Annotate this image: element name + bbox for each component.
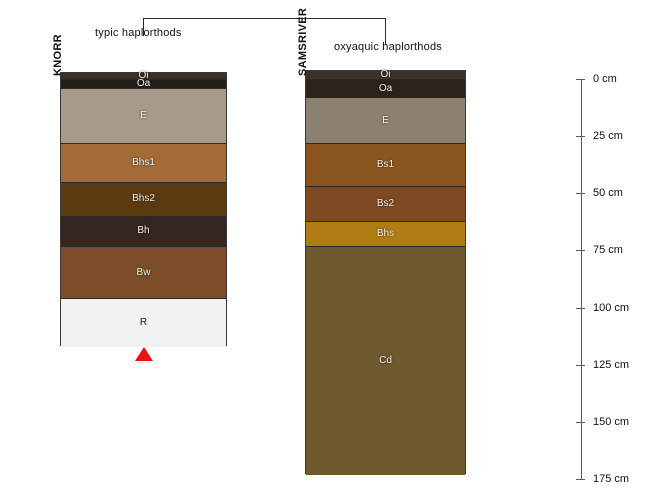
depth-tick (576, 250, 585, 251)
depth-tick (576, 479, 585, 480)
depth-tick-label: 75 cm (593, 244, 623, 256)
depth-tick-label: 50 cm (593, 187, 623, 199)
horizon-bh[interactable]: Bh (61, 217, 226, 247)
depth-tick (576, 308, 585, 309)
depth-tick (576, 365, 585, 366)
soil-profile-figure: typic haplorthods oxyaquic haplorthods O… (0, 0, 650, 500)
depth-tick-label: 100 cm (593, 302, 629, 314)
water-table-marker-icon (135, 347, 153, 361)
depth-tick (576, 193, 585, 194)
horizon-e[interactable]: E (61, 89, 226, 144)
horizon-label: Bh (137, 226, 149, 236)
depth-tick-label: 175 cm (593, 473, 629, 485)
horizon-label: Bw (137, 268, 151, 278)
soil-profile-samsriver[interactable]: OiOaEBs1Bs2BhsCd (305, 70, 466, 475)
horizon-bw[interactable]: Bw (61, 247, 226, 300)
taxonomy-bracket-horizontal (143, 18, 386, 19)
horizon-oa[interactable]: Oa (61, 80, 226, 89)
horizon-label: Bs1 (377, 160, 394, 170)
horizon-bhs1[interactable]: Bhs1 (61, 144, 226, 183)
horizon-label: Oa (137, 79, 150, 89)
profile-name-samsriver: SAMSRIVER (297, 8, 309, 76)
horizon-r[interactable]: R (61, 299, 226, 347)
horizon-bs1[interactable]: Bs1 (306, 144, 465, 187)
depth-tick-label: 150 cm (593, 416, 629, 428)
horizon-label: E (140, 111, 147, 121)
horizon-bhs2[interactable]: Bhs2 (61, 183, 226, 217)
horizon-label: Bs2 (377, 199, 394, 209)
horizon-label: Oa (379, 84, 392, 94)
profile-name-knorr: KNORR (52, 34, 64, 76)
depth-tick (576, 422, 585, 423)
horizon-label: E (382, 116, 389, 126)
horizon-cd[interactable]: Cd (306, 247, 465, 476)
horizon-bs2[interactable]: Bs2 (306, 187, 465, 221)
depth-tick-label: 0 cm (593, 73, 617, 85)
horizon-label: Bhs (377, 229, 394, 239)
depth-tick (576, 136, 585, 137)
horizon-label: Bhs2 (132, 194, 155, 204)
horizon-bhs[interactable]: Bhs (306, 222, 465, 247)
depth-axis-line (581, 79, 582, 479)
taxon-label-typic-haplorthods: typic haplorthods (95, 27, 182, 39)
horizon-oi[interactable]: Oi (61, 73, 226, 80)
depth-tick-label: 125 cm (593, 359, 629, 371)
depth-tick (576, 79, 585, 80)
horizon-oa[interactable]: Oa (306, 80, 465, 98)
horizon-label: Cd (379, 356, 392, 366)
horizon-oi[interactable]: Oi (306, 71, 465, 80)
horizon-label: R (140, 318, 147, 328)
horizon-label: Oi (381, 70, 391, 80)
soil-profile-knorr[interactable]: OiOaEBhs1Bhs2BhBwR (60, 72, 227, 346)
horizon-label: Bhs1 (132, 158, 155, 168)
depth-tick-label: 25 cm (593, 130, 623, 142)
taxon-label-oxyaquic-haplorthods: oxyaquic haplorthods (334, 41, 442, 53)
horizon-e[interactable]: E (306, 98, 465, 144)
